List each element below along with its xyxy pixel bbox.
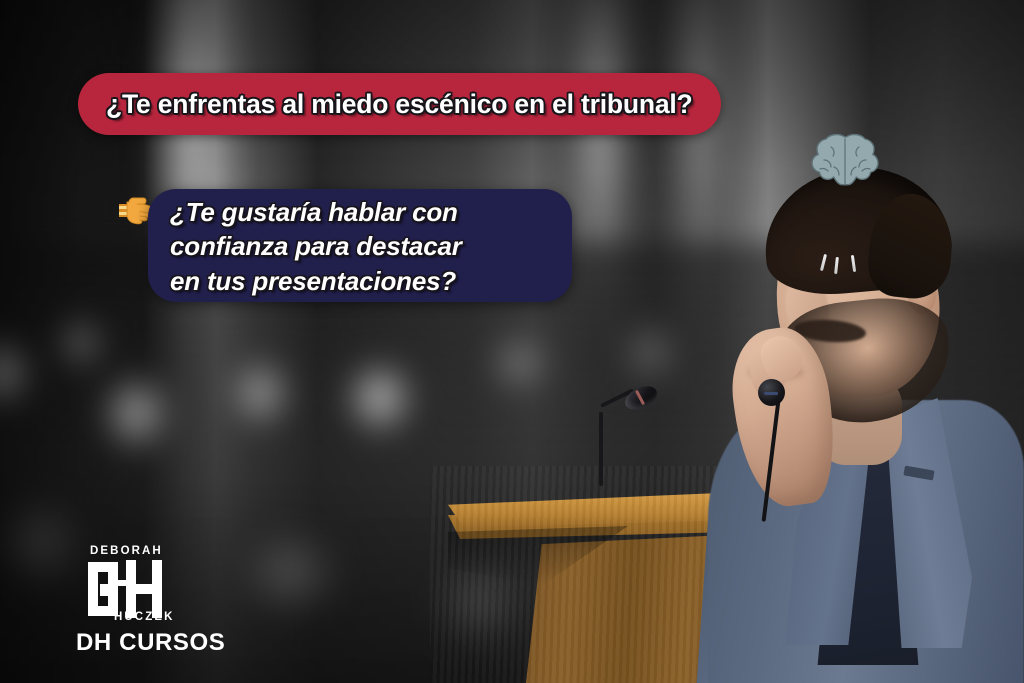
brand-logo: DEBORAH HUCZEK DH CURSOS xyxy=(62,537,242,647)
microphone-stem xyxy=(599,412,603,486)
speaker-person xyxy=(690,150,1024,683)
dh-monogram-icon xyxy=(86,560,164,618)
logo-bottom-word: HUCZEK xyxy=(114,611,175,623)
headline-text: ¿Te enfrentas al miedo escénico en el tr… xyxy=(106,89,693,120)
logo-top-word: DEBORAH xyxy=(90,545,163,557)
subheadline-text: ¿Te gustaría hablar con confianza para d… xyxy=(170,195,562,298)
microphone-ring-2 xyxy=(764,392,778,395)
promo-graphic-canvas: ¿Te enfrentas al miedo escénico en el tr… xyxy=(0,0,1024,683)
subheadline-banner: ¿Te gustaría hablar con confianza para d… xyxy=(148,189,572,302)
subheadline-line-3: en tus presentaciones? xyxy=(170,264,562,298)
subheadline-line-1: ¿Te gustaría hablar con xyxy=(170,195,562,229)
headline-banner: ¿Te enfrentas al miedo escénico en el tr… xyxy=(78,73,721,135)
subheadline-line-2: confianza para destacar xyxy=(170,229,562,263)
brain-emoji xyxy=(806,133,884,195)
brand-name: DH CURSOS xyxy=(76,629,225,657)
